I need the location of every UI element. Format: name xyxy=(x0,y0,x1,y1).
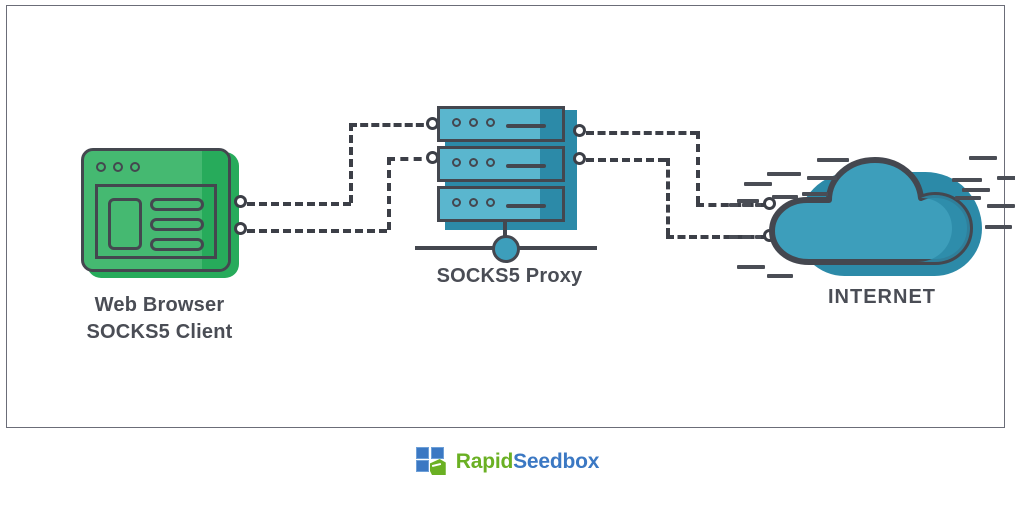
footer-logo: RapidSeedbox xyxy=(0,447,1015,477)
link-proxy-out2-v xyxy=(666,158,670,236)
speed-dash xyxy=(737,265,765,269)
speed-dash xyxy=(742,235,751,239)
client-label-line1: Web Browser xyxy=(27,292,292,319)
speed-dash xyxy=(729,235,738,239)
proxy-label: SOCKS5 Proxy xyxy=(407,265,612,288)
screenshot-root: Web Browser SOCKS5 Client xyxy=(0,0,1015,511)
speed-dash xyxy=(729,203,738,207)
speed-dash xyxy=(742,203,751,207)
speed-dash xyxy=(802,192,828,196)
speed-dash xyxy=(997,176,1015,180)
browser-dot-1 xyxy=(96,162,106,172)
proxy-port-out-1 xyxy=(573,124,586,137)
client-label-line2: SOCKS5 Client xyxy=(27,319,292,346)
server-led xyxy=(469,158,478,167)
client-port-upper xyxy=(234,195,247,208)
browser-dot-2 xyxy=(113,162,123,172)
link-client-low-h1 xyxy=(247,229,387,233)
speed-dash xyxy=(772,195,798,199)
logo-square-2 xyxy=(431,447,444,459)
speed-dash xyxy=(969,156,997,160)
browser-image-placeholder xyxy=(108,198,142,250)
link-proxy-out1-v xyxy=(696,131,700,204)
link-client-up-h2 xyxy=(349,123,435,127)
speed-dash xyxy=(955,196,981,200)
link-proxy-out1-h1 xyxy=(586,131,698,135)
browser-text-lines xyxy=(150,198,204,258)
server-led xyxy=(452,118,461,127)
speed-dash xyxy=(767,172,801,176)
proxy-node-dot xyxy=(492,235,520,263)
link-client-up-h1 xyxy=(247,202,351,206)
speed-dash xyxy=(952,178,982,182)
server-unit-1 xyxy=(437,106,565,142)
link-proxy-out2-h1 xyxy=(586,158,666,162)
brand-rapid: Rapid xyxy=(456,450,513,473)
server-unit-1-bar xyxy=(506,124,546,128)
server-led xyxy=(486,198,495,207)
logo-square-1 xyxy=(416,447,429,459)
server-unit-3 xyxy=(437,186,565,222)
server-unit-2-bar xyxy=(506,164,546,168)
server-led xyxy=(469,118,478,127)
link-client-low-v xyxy=(387,157,391,230)
speed-dash xyxy=(755,203,761,207)
speed-dash xyxy=(767,274,793,278)
server-unit-3-bar xyxy=(506,204,546,208)
speed-dash xyxy=(962,188,990,192)
server-unit-3-leds xyxy=(452,198,495,207)
logo-square-3 xyxy=(416,460,429,472)
browser-traffic-lights xyxy=(96,162,140,172)
brand-wordmark: RapidSeedbox xyxy=(456,450,599,474)
server-unit-1-leds xyxy=(452,118,495,127)
client-port-lower xyxy=(234,222,247,235)
server-unit-2-leds xyxy=(452,158,495,167)
speed-dash xyxy=(807,176,837,180)
proxy-port-out-2 xyxy=(573,152,586,165)
link-proxy-out2-h2 xyxy=(666,235,766,239)
speed-dash xyxy=(755,235,761,239)
server-led xyxy=(469,198,478,207)
diagram-stage: Web Browser SOCKS5 Client xyxy=(7,6,1004,427)
client-label: Web Browser SOCKS5 Client xyxy=(27,292,292,346)
browser-window-icon xyxy=(81,148,231,272)
browser-text-line xyxy=(150,238,204,251)
rapidseedbox-logo-icon xyxy=(416,447,448,477)
speed-dash xyxy=(987,204,1015,208)
server-led xyxy=(486,118,495,127)
browser-text-line xyxy=(150,218,204,231)
proxy-server-stack xyxy=(437,106,577,236)
diagram-frame: Web Browser SOCKS5 Client xyxy=(6,5,1005,428)
brand-seedbox: Seedbox xyxy=(513,450,599,473)
link-client-up-v xyxy=(349,123,353,203)
speed-dash xyxy=(985,225,1012,229)
server-unit-2 xyxy=(437,146,565,182)
server-led xyxy=(486,158,495,167)
browser-dot-3 xyxy=(130,162,140,172)
speed-dash xyxy=(817,158,849,162)
speed-dash xyxy=(744,182,772,186)
browser-viewport xyxy=(95,184,217,259)
internet-label: INTERNET xyxy=(792,286,972,309)
server-led xyxy=(452,158,461,167)
server-led xyxy=(452,198,461,207)
client-browser-icon xyxy=(77,144,247,284)
browser-text-line xyxy=(150,198,204,211)
